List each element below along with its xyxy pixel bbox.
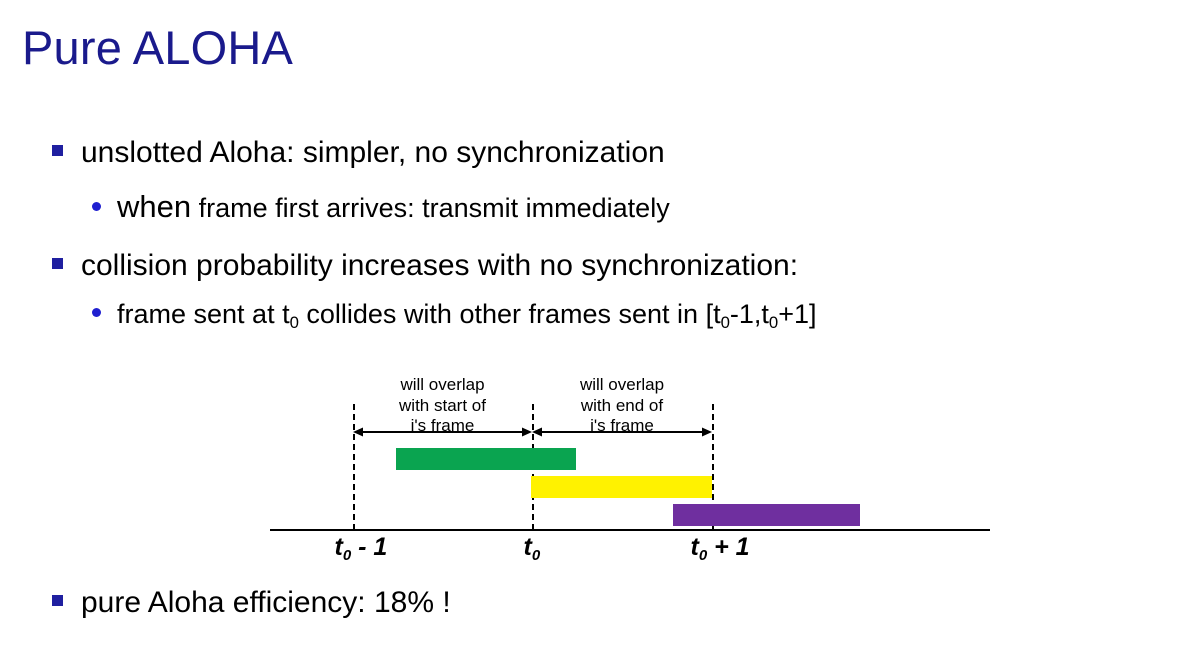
axis-label-base: t (335, 533, 343, 561)
square-bullet-icon (52, 145, 63, 156)
double-arrow-overlap-start-icon (353, 425, 532, 439)
axis-label-t0-minus-1: t0 - 1 (335, 533, 388, 562)
bullet-label: unslotted Aloha: simpler, no synchroniza… (81, 136, 665, 169)
time-axis (270, 529, 990, 531)
bullet-item-when-frame-arrives: when frame first arrives: transmit immed… (92, 190, 670, 224)
frame-bar-yellow (531, 476, 712, 498)
double-arrow-overlap-end-icon (532, 425, 712, 439)
axis-label-subscript: 0 (343, 547, 351, 564)
bullet-label: frame sent at t0 collides with other fra… (117, 300, 817, 330)
bullet-lead-word: when (117, 189, 191, 224)
frame-sent-part2: collides with other frames sent in [t (299, 299, 721, 329)
aloha-timeline-diagram: will overlap with start of i's frame wil… (0, 370, 1200, 570)
square-bullet-icon (52, 258, 63, 269)
bullet-item-frame-sent-at-t0: frame sent at t0 collides with other fra… (92, 300, 817, 330)
axis-label-suffix: + 1 (707, 533, 749, 561)
axis-label-base: t (524, 533, 532, 561)
frame-bar-purple (673, 504, 860, 526)
round-bullet-icon (92, 308, 101, 317)
bullet-label: collision probability increases with no … (81, 249, 798, 282)
bullet-item-unslotted-aloha: unslotted Aloha: simpler, no synchroniza… (52, 136, 665, 169)
subscript-zero: 0 (769, 313, 778, 332)
bullet-label: pure Aloha efficiency: 18% ! (81, 586, 451, 619)
bullet-rest: frame first arrives: transmit immediatel… (191, 193, 670, 223)
bullet-label: when frame first arrives: transmit immed… (117, 190, 670, 224)
axis-label-suffix: - 1 (351, 533, 387, 561)
annotation-line: with end of (497, 396, 747, 417)
axis-label-t0-plus-1: t0 + 1 (691, 533, 750, 562)
subscript-zero: 0 (290, 313, 299, 332)
frame-sent-part3: -1,t (730, 299, 769, 329)
axis-label-t0: t0 (524, 533, 541, 562)
subscript-zero: 0 (721, 313, 730, 332)
frame-sent-part4: +1] (778, 299, 816, 329)
annotation-line: will overlap (497, 375, 747, 396)
round-bullet-icon (92, 202, 101, 211)
square-bullet-icon (52, 595, 63, 606)
bullet-item-pure-aloha-efficiency: pure Aloha efficiency: 18% ! (52, 586, 451, 619)
frame-sent-part1: frame sent at t (117, 299, 290, 329)
frame-bar-green (396, 448, 576, 470)
axis-label-subscript: 0 (532, 547, 540, 564)
page-title: Pure ALOHA (22, 20, 293, 75)
axis-label-subscript: 0 (699, 547, 707, 564)
bullet-item-collision-probability: collision probability increases with no … (52, 249, 798, 282)
axis-label-base: t (691, 533, 699, 561)
